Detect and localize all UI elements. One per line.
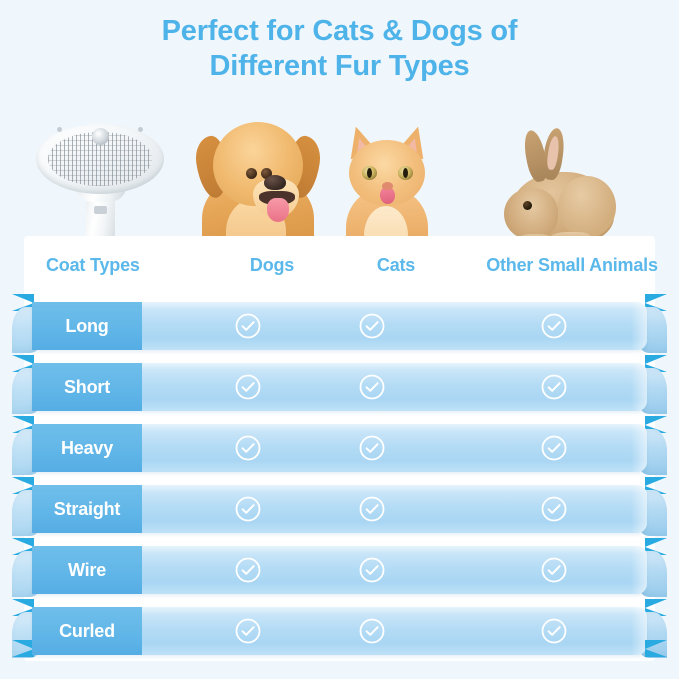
check-circle-icon [540, 312, 568, 340]
cell-other-small-animals [466, 485, 642, 533]
check-circle-icon [358, 495, 386, 523]
check-circle-icon [540, 556, 568, 584]
coat-type-label: Wire [32, 546, 142, 594]
cell-dogs [200, 485, 296, 533]
ribbon-bar: Short [32, 363, 647, 411]
table-row: Long [0, 294, 679, 355]
ribbon-bar: Straight [32, 485, 647, 533]
coat-type-label: Curled [32, 607, 142, 655]
check-circle-icon [358, 434, 386, 462]
cell-cats [324, 302, 420, 350]
ribbon-bar: Heavy [32, 424, 647, 472]
comparison-table-rows: Long [0, 0, 679, 679]
ribbon-tail-right [639, 640, 667, 657]
check-circle-icon [234, 434, 262, 462]
check-circle-icon [234, 556, 262, 584]
table-row: Short [0, 355, 679, 416]
cell-dogs [200, 302, 296, 350]
cell-dogs [200, 546, 296, 594]
cell-other-small-animals [466, 363, 642, 411]
ribbon-bar: Wire [32, 546, 647, 594]
cell-other-small-animals [466, 302, 642, 350]
cell-dogs [200, 424, 296, 472]
coat-type-label: Long [32, 302, 142, 350]
check-circle-icon [540, 495, 568, 523]
check-circle-icon [234, 373, 262, 401]
cell-other-small-animals [466, 546, 642, 594]
coat-type-label: Heavy [32, 424, 142, 472]
table-row: Wire [0, 538, 679, 599]
coat-type-label: Short [32, 363, 142, 411]
cell-other-small-animals [466, 424, 642, 472]
cell-cats [324, 363, 420, 411]
cell-cats [324, 546, 420, 594]
check-circle-icon [358, 312, 386, 340]
check-circle-icon [358, 373, 386, 401]
ribbon-bar: Long [32, 302, 647, 350]
check-circle-icon [540, 373, 568, 401]
table-row: Heavy [0, 416, 679, 477]
check-circle-icon [358, 556, 386, 584]
check-circle-icon [234, 495, 262, 523]
cell-cats [324, 424, 420, 472]
coat-type-label: Straight [32, 485, 142, 533]
cell-dogs [200, 363, 296, 411]
cell-cats [324, 485, 420, 533]
check-circle-icon [234, 312, 262, 340]
table-row: Straight [0, 477, 679, 538]
check-circle-icon [540, 434, 568, 462]
